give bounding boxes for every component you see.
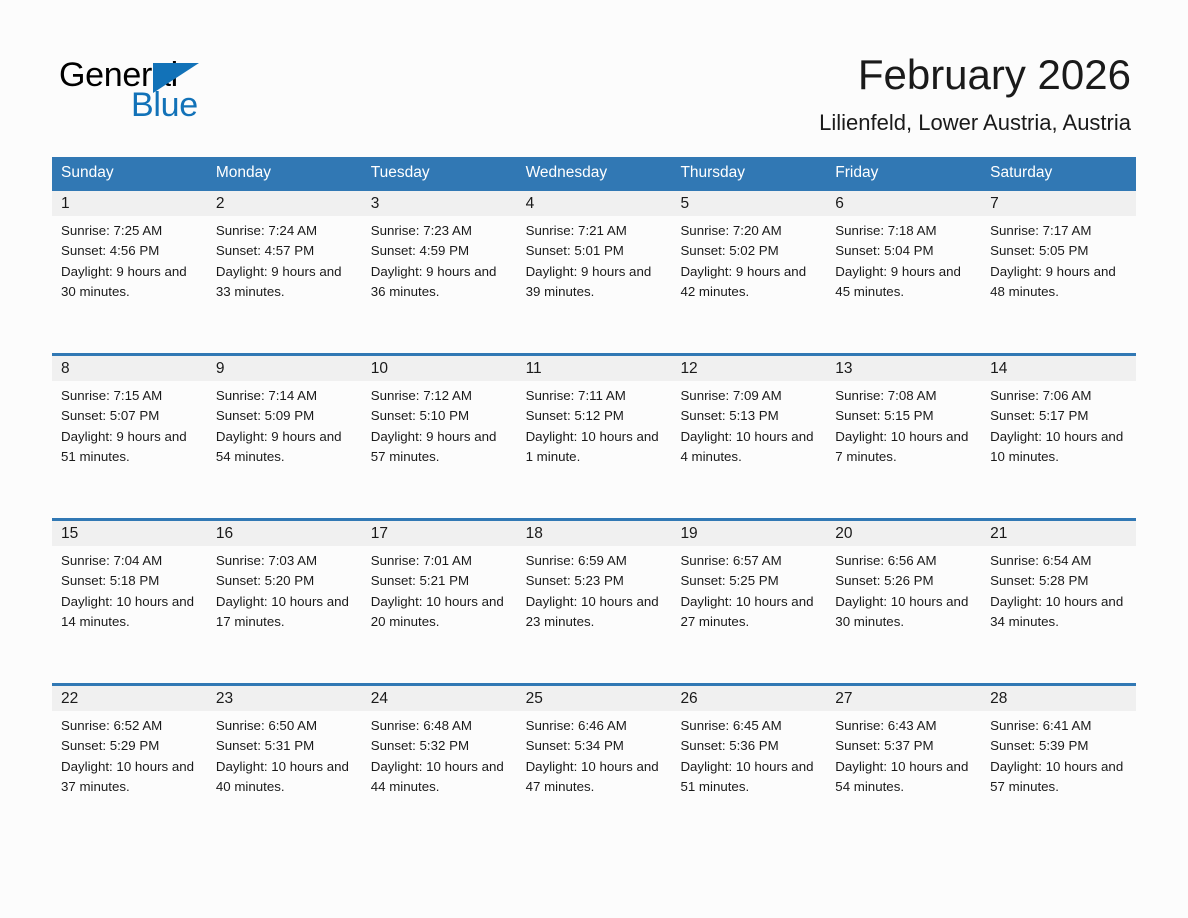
daylight-text: Daylight: 10 hours and 17 minutes.: [216, 592, 353, 633]
sunset-text: Sunset: 5:20 PM: [216, 571, 353, 591]
calendar-page: General Blue February 2026 Lilienfeld, L…: [0, 0, 1188, 918]
day-number: 12: [671, 356, 826, 381]
sunrise-text: Sunrise: 7:17 AM: [990, 221, 1127, 241]
day-cell[interactable]: 27 Sunrise: 6:43 AM Sunset: 5:37 PM Dayl…: [826, 686, 981, 848]
day-number-band: 9: [207, 356, 362, 381]
day-number: 22: [52, 686, 207, 711]
day-number: 1: [52, 191, 207, 216]
day-number: 15: [52, 521, 207, 546]
sunset-text: Sunset: 4:59 PM: [371, 241, 508, 261]
daylight-text: Daylight: 10 hours and 1 minute.: [526, 427, 663, 468]
sunset-text: Sunset: 5:13 PM: [680, 406, 817, 426]
daylight-text: Daylight: 10 hours and 47 minutes.: [526, 757, 663, 798]
daylight-text: Daylight: 10 hours and 40 minutes.: [216, 757, 353, 798]
day-number: 17: [362, 521, 517, 546]
daylight-text: Daylight: 10 hours and 37 minutes.: [61, 757, 198, 798]
sunrise-text: Sunrise: 6:52 AM: [61, 716, 198, 736]
daylight-text: Daylight: 10 hours and 44 minutes.: [371, 757, 508, 798]
day-info: Sunrise: 7:21 AM Sunset: 5:01 PM Dayligh…: [517, 216, 672, 303]
day-cell[interactable]: 15 Sunrise: 7:04 AM Sunset: 5:18 PM Dayl…: [52, 521, 207, 683]
day-cell[interactable]: 12 Sunrise: 7:09 AM Sunset: 5:13 PM Dayl…: [671, 356, 826, 518]
day-number-band: 15: [52, 521, 207, 546]
day-number-band: 8: [52, 356, 207, 381]
day-info: Sunrise: 7:04 AM Sunset: 5:18 PM Dayligh…: [52, 546, 207, 633]
day-info: Sunrise: 7:17 AM Sunset: 5:05 PM Dayligh…: [981, 216, 1136, 303]
sunrise-text: Sunrise: 7:11 AM: [526, 386, 663, 406]
day-info: Sunrise: 7:25 AM Sunset: 4:56 PM Dayligh…: [52, 216, 207, 303]
weekday-header-monday: Monday: [207, 157, 362, 188]
sunset-text: Sunset: 5:28 PM: [990, 571, 1127, 591]
day-cell[interactable]: 21 Sunrise: 6:54 AM Sunset: 5:28 PM Dayl…: [981, 521, 1136, 683]
sunrise-text: Sunrise: 7:09 AM: [680, 386, 817, 406]
day-number-band: 1: [52, 191, 207, 216]
day-info: Sunrise: 6:48 AM Sunset: 5:32 PM Dayligh…: [362, 711, 517, 798]
day-cell[interactable]: 19 Sunrise: 6:57 AM Sunset: 5:25 PM Dayl…: [671, 521, 826, 683]
day-number: 19: [671, 521, 826, 546]
sunset-text: Sunset: 5:18 PM: [61, 571, 198, 591]
day-info: Sunrise: 7:20 AM Sunset: 5:02 PM Dayligh…: [671, 216, 826, 303]
sunrise-text: Sunrise: 6:57 AM: [680, 551, 817, 571]
day-cell[interactable]: 18 Sunrise: 6:59 AM Sunset: 5:23 PM Dayl…: [517, 521, 672, 683]
day-cell[interactable]: 22 Sunrise: 6:52 AM Sunset: 5:29 PM Dayl…: [52, 686, 207, 848]
day-cell[interactable]: 24 Sunrise: 6:48 AM Sunset: 5:32 PM Dayl…: [362, 686, 517, 848]
day-info: Sunrise: 7:12 AM Sunset: 5:10 PM Dayligh…: [362, 381, 517, 468]
title-block: February 2026 Lilienfeld, Lower Austria,…: [819, 48, 1131, 138]
weekday-header-wednesday: Wednesday: [517, 157, 672, 188]
day-info: Sunrise: 7:03 AM Sunset: 5:20 PM Dayligh…: [207, 546, 362, 633]
day-number-band: 12: [671, 356, 826, 381]
week-row: 22 Sunrise: 6:52 AM Sunset: 5:29 PM Dayl…: [52, 683, 1136, 848]
sunrise-text: Sunrise: 6:50 AM: [216, 716, 353, 736]
day-info: Sunrise: 6:56 AM Sunset: 5:26 PM Dayligh…: [826, 546, 981, 633]
sunrise-text: Sunrise: 7:15 AM: [61, 386, 198, 406]
sunset-text: Sunset: 5:07 PM: [61, 406, 198, 426]
day-cell[interactable]: 7 Sunrise: 7:17 AM Sunset: 5:05 PM Dayli…: [981, 191, 1136, 353]
sunrise-text: Sunrise: 7:25 AM: [61, 221, 198, 241]
sunrise-text: Sunrise: 7:01 AM: [371, 551, 508, 571]
daylight-text: Daylight: 10 hours and 57 minutes.: [990, 757, 1127, 798]
week-row: 15 Sunrise: 7:04 AM Sunset: 5:18 PM Dayl…: [52, 518, 1136, 683]
sunrise-text: Sunrise: 7:21 AM: [526, 221, 663, 241]
sunrise-text: Sunrise: 7:24 AM: [216, 221, 353, 241]
sunset-text: Sunset: 5:21 PM: [371, 571, 508, 591]
day-info: Sunrise: 7:23 AM Sunset: 4:59 PM Dayligh…: [362, 216, 517, 303]
sunrise-text: Sunrise: 7:06 AM: [990, 386, 1127, 406]
sunset-text: Sunset: 5:25 PM: [680, 571, 817, 591]
daylight-text: Daylight: 9 hours and 30 minutes.: [61, 262, 198, 303]
sunrise-text: Sunrise: 7:04 AM: [61, 551, 198, 571]
sunset-text: Sunset: 5:26 PM: [835, 571, 972, 591]
sunrise-text: Sunrise: 6:46 AM: [526, 716, 663, 736]
day-cell[interactable]: 6 Sunrise: 7:18 AM Sunset: 5:04 PM Dayli…: [826, 191, 981, 353]
daylight-text: Daylight: 10 hours and 14 minutes.: [61, 592, 198, 633]
day-cell[interactable]: 25 Sunrise: 6:46 AM Sunset: 5:34 PM Dayl…: [517, 686, 672, 848]
page-header: General Blue February 2026 Lilienfeld, L…: [0, 0, 1188, 155]
daylight-text: Daylight: 10 hours and 10 minutes.: [990, 427, 1127, 468]
page-title: February 2026: [819, 48, 1131, 102]
day-number-band: 25: [517, 686, 672, 711]
day-cell[interactable]: 26 Sunrise: 6:45 AM Sunset: 5:36 PM Dayl…: [671, 686, 826, 848]
day-number: 9: [207, 356, 362, 381]
day-number: 27: [826, 686, 981, 711]
daylight-text: Daylight: 9 hours and 42 minutes.: [680, 262, 817, 303]
day-info: Sunrise: 6:43 AM Sunset: 5:37 PM Dayligh…: [826, 711, 981, 798]
sunrise-text: Sunrise: 7:23 AM: [371, 221, 508, 241]
day-number: 28: [981, 686, 1136, 711]
week-row: 8 Sunrise: 7:15 AM Sunset: 5:07 PM Dayli…: [52, 353, 1136, 518]
weekday-header-friday: Friday: [826, 157, 981, 188]
day-number: 18: [517, 521, 672, 546]
day-number-band: 28: [981, 686, 1136, 711]
daylight-text: Daylight: 9 hours and 33 minutes.: [216, 262, 353, 303]
day-number-band: 3: [362, 191, 517, 216]
day-cell[interactable]: 10 Sunrise: 7:12 AM Sunset: 5:10 PM Dayl…: [362, 356, 517, 518]
day-info: Sunrise: 7:18 AM Sunset: 5:04 PM Dayligh…: [826, 216, 981, 303]
day-number-band: 21: [981, 521, 1136, 546]
day-info: Sunrise: 6:59 AM Sunset: 5:23 PM Dayligh…: [517, 546, 672, 633]
day-number-band: 2: [207, 191, 362, 216]
day-number: 6: [826, 191, 981, 216]
sunset-text: Sunset: 5:23 PM: [526, 571, 663, 591]
day-number-band: 6: [826, 191, 981, 216]
sunset-text: Sunset: 5:34 PM: [526, 736, 663, 756]
day-info: Sunrise: 7:24 AM Sunset: 4:57 PM Dayligh…: [207, 216, 362, 303]
sunset-text: Sunset: 5:39 PM: [990, 736, 1127, 756]
generalblue-logo: General Blue: [59, 55, 259, 127]
daylight-text: Daylight: 9 hours and 51 minutes.: [61, 427, 198, 468]
day-number-band: 11: [517, 356, 672, 381]
day-number: 16: [207, 521, 362, 546]
day-info: Sunrise: 6:46 AM Sunset: 5:34 PM Dayligh…: [517, 711, 672, 798]
sunset-text: Sunset: 5:05 PM: [990, 241, 1127, 261]
daylight-text: Daylight: 10 hours and 7 minutes.: [835, 427, 972, 468]
sunset-text: Sunset: 5:09 PM: [216, 406, 353, 426]
sunset-text: Sunset: 5:02 PM: [680, 241, 817, 261]
sunset-text: Sunset: 5:29 PM: [61, 736, 198, 756]
day-cell[interactable]: 3 Sunrise: 7:23 AM Sunset: 4:59 PM Dayli…: [362, 191, 517, 353]
day-info: Sunrise: 7:08 AM Sunset: 5:15 PM Dayligh…: [826, 381, 981, 468]
day-number-band: 13: [826, 356, 981, 381]
day-info: Sunrise: 7:09 AM Sunset: 5:13 PM Dayligh…: [671, 381, 826, 468]
day-number: 10: [362, 356, 517, 381]
location-subtitle: Lilienfeld, Lower Austria, Austria: [819, 108, 1131, 138]
logo-text-blue: Blue: [131, 85, 198, 125]
day-cell[interactable]: 2 Sunrise: 7:24 AM Sunset: 4:57 PM Dayli…: [207, 191, 362, 353]
day-cell[interactable]: 20 Sunrise: 6:56 AM Sunset: 5:26 PM Dayl…: [826, 521, 981, 683]
day-number-band: 10: [362, 356, 517, 381]
sunrise-text: Sunrise: 7:14 AM: [216, 386, 353, 406]
day-number-band: 16: [207, 521, 362, 546]
daylight-text: Daylight: 10 hours and 30 minutes.: [835, 592, 972, 633]
day-number-band: 26: [671, 686, 826, 711]
daylight-text: Daylight: 9 hours and 54 minutes.: [216, 427, 353, 468]
day-info: Sunrise: 7:01 AM Sunset: 5:21 PM Dayligh…: [362, 546, 517, 633]
sunrise-text: Sunrise: 6:59 AM: [526, 551, 663, 571]
sunset-text: Sunset: 5:32 PM: [371, 736, 508, 756]
daylight-text: Daylight: 10 hours and 20 minutes.: [371, 592, 508, 633]
day-cell[interactable]: 11 Sunrise: 7:11 AM Sunset: 5:12 PM Dayl…: [517, 356, 672, 518]
day-info: Sunrise: 6:41 AM Sunset: 5:39 PM Dayligh…: [981, 711, 1136, 798]
day-info: Sunrise: 6:57 AM Sunset: 5:25 PM Dayligh…: [671, 546, 826, 633]
sunset-text: Sunset: 4:56 PM: [61, 241, 198, 261]
daylight-text: Daylight: 9 hours and 36 minutes.: [371, 262, 508, 303]
day-number: 25: [517, 686, 672, 711]
day-number-band: 5: [671, 191, 826, 216]
day-cell[interactable]: 28 Sunrise: 6:41 AM Sunset: 5:39 PM Dayl…: [981, 686, 1136, 848]
daylight-text: Daylight: 9 hours and 45 minutes.: [835, 262, 972, 303]
day-info: Sunrise: 6:52 AM Sunset: 5:29 PM Dayligh…: [52, 711, 207, 798]
weekday-header-saturday: Saturday: [981, 157, 1136, 188]
sunset-text: Sunset: 5:37 PM: [835, 736, 972, 756]
day-number-band: 19: [671, 521, 826, 546]
sunset-text: Sunset: 5:36 PM: [680, 736, 817, 756]
sunrise-text: Sunrise: 6:41 AM: [990, 716, 1127, 736]
day-cell[interactable]: 23 Sunrise: 6:50 AM Sunset: 5:31 PM Dayl…: [207, 686, 362, 848]
day-number: 7: [981, 191, 1136, 216]
day-number-band: 27: [826, 686, 981, 711]
sunrise-text: Sunrise: 7:03 AM: [216, 551, 353, 571]
day-cell[interactable]: 5 Sunrise: 7:20 AM Sunset: 5:02 PM Dayli…: [671, 191, 826, 353]
day-cell[interactable]: 16 Sunrise: 7:03 AM Sunset: 5:20 PM Dayl…: [207, 521, 362, 683]
sunset-text: Sunset: 4:57 PM: [216, 241, 353, 261]
day-number: 24: [362, 686, 517, 711]
daylight-text: Daylight: 10 hours and 51 minutes.: [680, 757, 817, 798]
day-info: Sunrise: 6:45 AM Sunset: 5:36 PM Dayligh…: [671, 711, 826, 798]
day-info: Sunrise: 7:14 AM Sunset: 5:09 PM Dayligh…: [207, 381, 362, 468]
daylight-text: Daylight: 9 hours and 39 minutes.: [526, 262, 663, 303]
sunrise-text: Sunrise: 6:48 AM: [371, 716, 508, 736]
daylight-text: Daylight: 10 hours and 54 minutes.: [835, 757, 972, 798]
sunrise-text: Sunrise: 6:45 AM: [680, 716, 817, 736]
calendar-grid: Sunday Monday Tuesday Wednesday Thursday…: [52, 157, 1136, 848]
daylight-text: Daylight: 10 hours and 34 minutes.: [990, 592, 1127, 633]
sunrise-text: Sunrise: 7:12 AM: [371, 386, 508, 406]
day-number-band: 20: [826, 521, 981, 546]
day-cell[interactable]: 9 Sunrise: 7:14 AM Sunset: 5:09 PM Dayli…: [207, 356, 362, 518]
day-cell[interactable]: 14 Sunrise: 7:06 AM Sunset: 5:17 PM Dayl…: [981, 356, 1136, 518]
day-number: 20: [826, 521, 981, 546]
day-number-band: 24: [362, 686, 517, 711]
day-number: 21: [981, 521, 1136, 546]
day-cell[interactable]: 17 Sunrise: 7:01 AM Sunset: 5:21 PM Dayl…: [362, 521, 517, 683]
day-info: Sunrise: 7:15 AM Sunset: 5:07 PM Dayligh…: [52, 381, 207, 468]
day-number-band: 17: [362, 521, 517, 546]
week-row: 1 Sunrise: 7:25 AM Sunset: 4:56 PM Dayli…: [52, 188, 1136, 353]
day-number: 5: [671, 191, 826, 216]
sunset-text: Sunset: 5:31 PM: [216, 736, 353, 756]
day-number: 23: [207, 686, 362, 711]
sunset-text: Sunset: 5:15 PM: [835, 406, 972, 426]
sunrise-text: Sunrise: 6:54 AM: [990, 551, 1127, 571]
day-number: 26: [671, 686, 826, 711]
day-number-band: 22: [52, 686, 207, 711]
day-number-band: 23: [207, 686, 362, 711]
day-info: Sunrise: 7:06 AM Sunset: 5:17 PM Dayligh…: [981, 381, 1136, 468]
sunrise-text: Sunrise: 6:43 AM: [835, 716, 972, 736]
day-cell[interactable]: 4 Sunrise: 7:21 AM Sunset: 5:01 PM Dayli…: [517, 191, 672, 353]
day-number-band: 4: [517, 191, 672, 216]
daylight-text: Daylight: 10 hours and 4 minutes.: [680, 427, 817, 468]
sunset-text: Sunset: 5:12 PM: [526, 406, 663, 426]
daylight-text: Daylight: 9 hours and 48 minutes.: [990, 262, 1127, 303]
day-number: 14: [981, 356, 1136, 381]
day-info: Sunrise: 7:11 AM Sunset: 5:12 PM Dayligh…: [517, 381, 672, 468]
day-number-band: 7: [981, 191, 1136, 216]
sunrise-text: Sunrise: 7:18 AM: [835, 221, 972, 241]
sunrise-text: Sunrise: 7:20 AM: [680, 221, 817, 241]
sunset-text: Sunset: 5:04 PM: [835, 241, 972, 261]
sunset-text: Sunset: 5:17 PM: [990, 406, 1127, 426]
day-info: Sunrise: 6:50 AM Sunset: 5:31 PM Dayligh…: [207, 711, 362, 798]
day-number-band: 18: [517, 521, 672, 546]
day-cell[interactable]: 13 Sunrise: 7:08 AM Sunset: 5:15 PM Dayl…: [826, 356, 981, 518]
daylight-text: Daylight: 10 hours and 27 minutes.: [680, 592, 817, 633]
sunset-text: Sunset: 5:10 PM: [371, 406, 508, 426]
weekday-header-tuesday: Tuesday: [362, 157, 517, 188]
day-number: 2: [207, 191, 362, 216]
day-number-band: 14: [981, 356, 1136, 381]
weekday-header-row: Sunday Monday Tuesday Wednesday Thursday…: [52, 157, 1136, 188]
day-cell[interactable]: 8 Sunrise: 7:15 AM Sunset: 5:07 PM Dayli…: [52, 356, 207, 518]
day-number: 4: [517, 191, 672, 216]
daylight-text: Daylight: 9 hours and 57 minutes.: [371, 427, 508, 468]
weekday-header-thursday: Thursday: [671, 157, 826, 188]
sunset-text: Sunset: 5:01 PM: [526, 241, 663, 261]
day-number: 11: [517, 356, 672, 381]
day-info: Sunrise: 6:54 AM Sunset: 5:28 PM Dayligh…: [981, 546, 1136, 633]
day-cell[interactable]: 1 Sunrise: 7:25 AM Sunset: 4:56 PM Dayli…: [52, 191, 207, 353]
daylight-text: Daylight: 10 hours and 23 minutes.: [526, 592, 663, 633]
day-number: 8: [52, 356, 207, 381]
sunrise-text: Sunrise: 6:56 AM: [835, 551, 972, 571]
day-number: 3: [362, 191, 517, 216]
weekday-header-sunday: Sunday: [52, 157, 207, 188]
sunrise-text: Sunrise: 7:08 AM: [835, 386, 972, 406]
day-number: 13: [826, 356, 981, 381]
